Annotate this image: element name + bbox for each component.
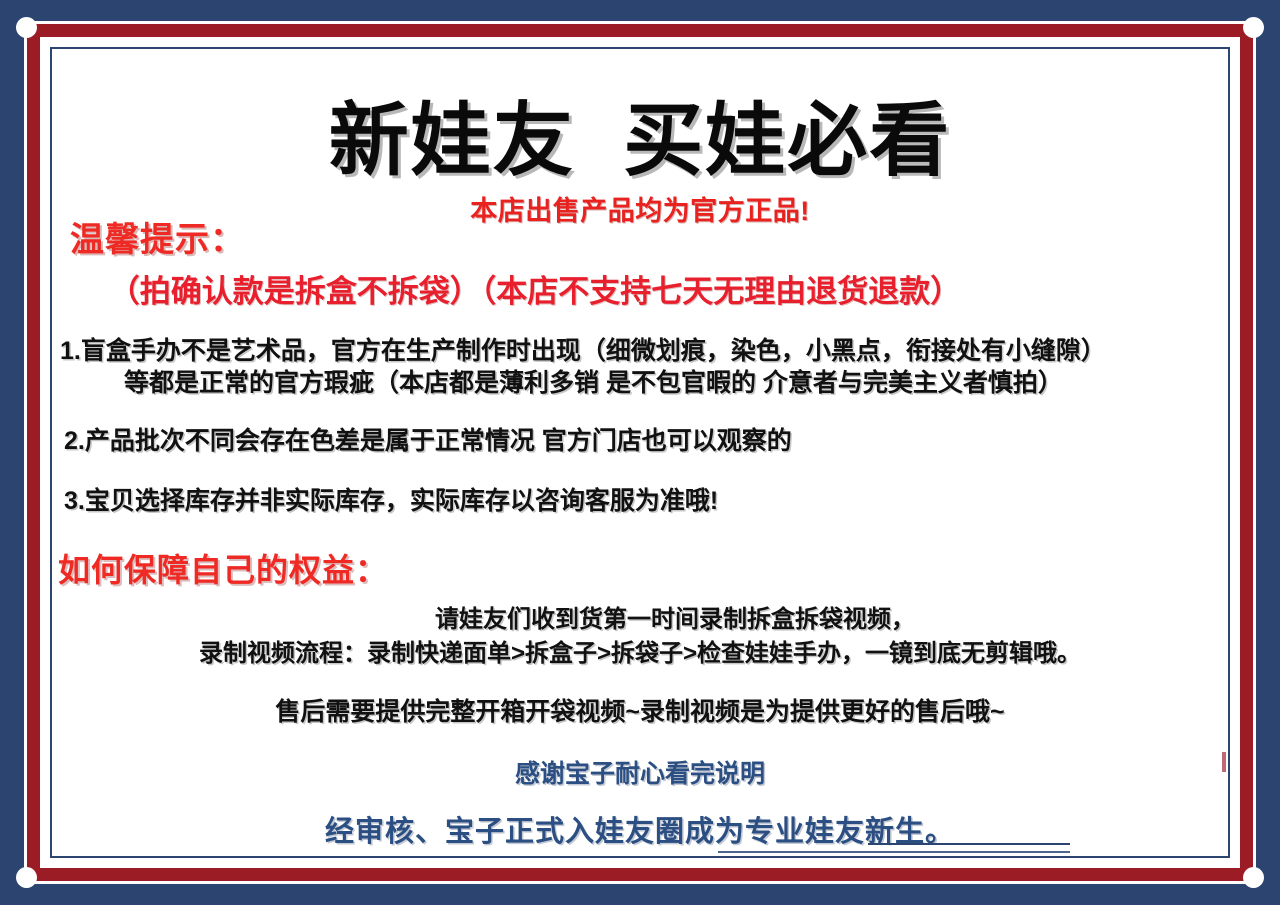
return-policy-notice: （拍确认款是拆盒不拆袋）（本店不支持七天无理由退货退款） [52,266,1228,311]
corner-dot-bottom-right [1243,867,1264,888]
howto-instructions: 请娃友们收到货第一时间录制拆盒拆袋视频， 录制视频流程：录制快递面单>拆盒子>拆… [52,603,1228,670]
protect-rights-heading: 如何保障自己的权益： [52,545,1228,591]
corner-dot-top-left [16,17,37,38]
aftersale-note: 售后需要提供完整开箱开袋视频~录制视频是为提供更好的售后哦~ [52,692,1228,728]
rule-3-line-1: 3.宝贝选择库存并非实际库存，实际库存以咨询客服为准哦! [52,485,1228,517]
list-item: 3.宝贝选择库存并非实际库存，实际库存以咨询客服为准哦! [52,485,1228,517]
rule-2-line-1: 2.产品批次不同会存在色差是属于正常情况 官方门店也可以观察的 [52,425,1228,457]
thanks-message: 感谢宝子耐心看完说明 [52,754,1228,790]
warm-tips-label: 温馨提示： [70,212,245,261]
poster-content: 新娃友 买娃必看 本店出售产品均为官方正品! 温馨提示： （拍确认款是拆盒不拆袋… [52,49,1228,856]
edge-tick-artifact [1222,752,1226,772]
bottom-rule-artifact-upper [868,843,1070,845]
list-item: 2.产品批次不同会存在色差是属于正常情况 官方门店也可以观察的 [52,425,1228,457]
corner-dot-bottom-left [16,867,37,888]
rule-1-line-1: 1.盲盒手办不是艺术品，官方在生产制作时出现（细微划痕，染色，小黑点，衔接处有小… [52,335,1228,367]
bottom-rule-artifact-lower [718,851,1070,853]
rules-list: 1.盲盒手办不是艺术品，官方在生产制作时出现（细微划痕，染色，小黑点，衔接处有小… [52,335,1228,517]
corner-dot-top-right [1243,17,1264,38]
list-item: 1.盲盒手办不是艺术品，官方在生产制作时出现（细微划痕，染色，小黑点，衔接处有小… [52,335,1228,399]
rule-1-line-2: 等都是正常的官方瑕疵（本店都是薄利多销 是不包官暇的 介意者与完美主义者慎拍） [52,367,1228,399]
howto-line-2: 录制视频流程：录制快递面单>拆盒子>拆袋子>检查娃娃手办，一镜到底无剪辑哦。 [52,637,1228,671]
page-title: 新娃友 买娃必看 [52,101,1228,181]
howto-line-1: 请娃友们收到货第一时间录制拆盒拆袋视频， [52,603,1228,637]
poster-frame: 新娃友 买娃必看 本店出售产品均为官方正品! 温馨提示： （拍确认款是拆盒不拆袋… [0,0,1280,905]
